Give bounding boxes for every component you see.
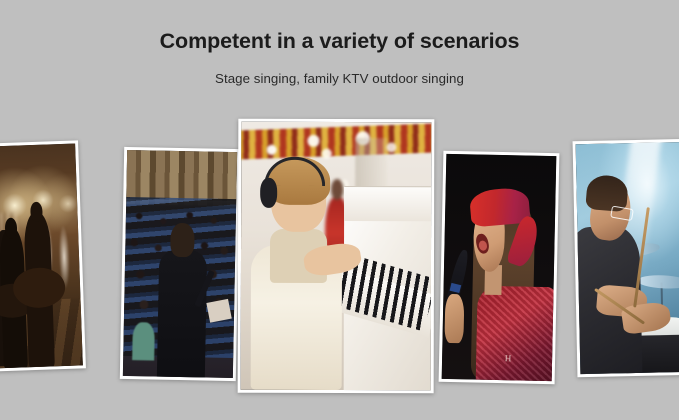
headphones-earcup (260, 178, 277, 208)
singer-hand (445, 293, 465, 343)
photo-frame (123, 150, 237, 378)
drummer-scene (576, 142, 679, 374)
photo-frame (576, 142, 679, 374)
white-piano-lid (344, 186, 431, 221)
photo-singer: H (439, 151, 560, 384)
singer-scene: H (442, 154, 557, 381)
audience-member-front (132, 322, 155, 361)
ballet-stage-scene (0, 143, 83, 368)
speaker-figure (157, 250, 208, 378)
photo-auditorium (120, 147, 240, 381)
cymbal-lower (637, 275, 679, 290)
jacket-letter-emblem: H (505, 353, 512, 363)
photo-frame (0, 143, 83, 368)
drummer-hair (586, 174, 630, 212)
piano-scene (241, 122, 432, 390)
photo-piano (238, 119, 435, 394)
photo-ballet (0, 140, 86, 371)
photo-frame: H (442, 154, 557, 381)
auditorium-scene (123, 150, 237, 378)
singer-sequined-jacket (476, 285, 557, 381)
photo-gallery: H (0, 0, 679, 420)
photo-frame (241, 122, 432, 390)
held-papers (206, 299, 231, 323)
photo-drummer (573, 139, 679, 377)
